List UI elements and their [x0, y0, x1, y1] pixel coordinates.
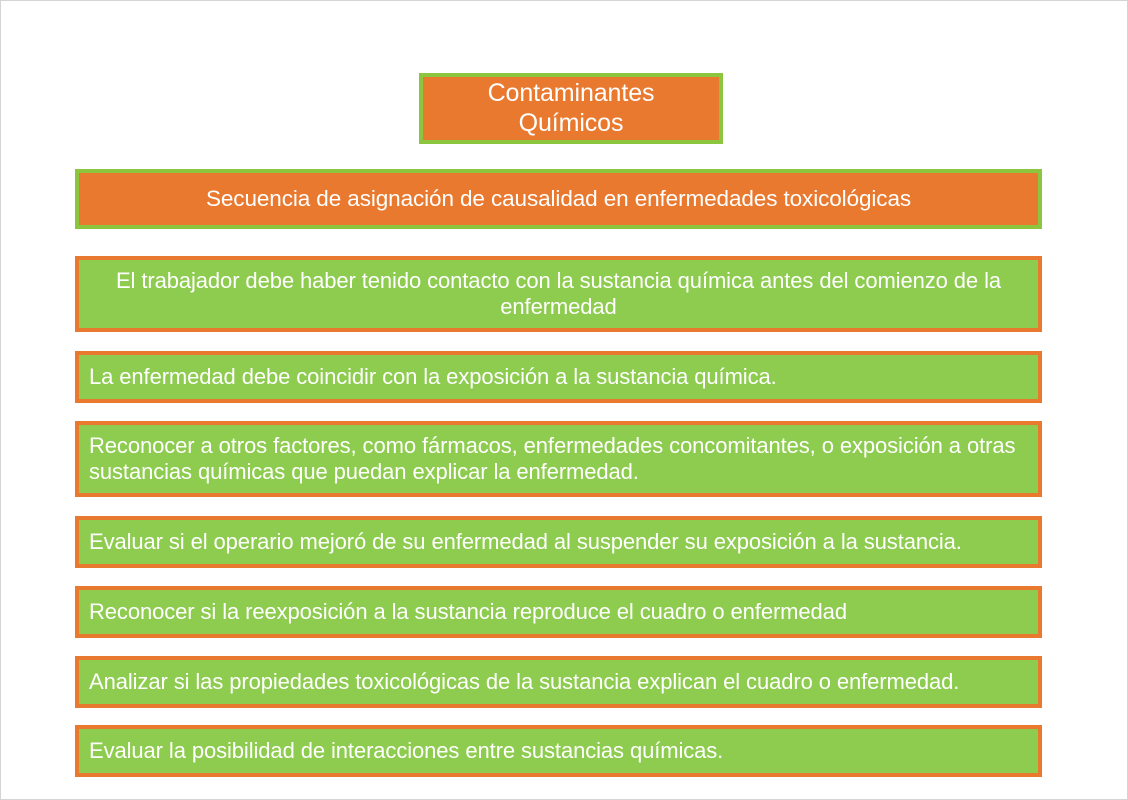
diagram-node-step-2[interactable]: La enfermedad debe coincidir con la expo…	[75, 351, 1042, 403]
diagram-node-title-label: ContaminantesQuímicos	[423, 79, 719, 138]
diagram-node-step-7[interactable]: Evaluar la posibilidad de interacciones …	[75, 725, 1042, 777]
diagram-node-step-3-label: Reconocer a otros factores, como fármaco…	[89, 433, 1028, 485]
slide-frame: ContaminantesQuímicos Secuencia de asign…	[0, 0, 1128, 800]
diagram-node-step-7-label: Evaluar la posibilidad de interacciones …	[89, 738, 1028, 764]
diagram-node-header[interactable]: Secuencia de asignación de causalidad en…	[75, 169, 1042, 229]
diagram-node-step-2-label: La enfermedad debe coincidir con la expo…	[89, 364, 1028, 390]
diagram-node-step-5[interactable]: Reconocer si la reexposición a la sustan…	[75, 586, 1042, 638]
diagram-node-step-4[interactable]: Evaluar si el operario mejoró de su enfe…	[75, 516, 1042, 568]
title-line-1: Contaminantes	[488, 79, 655, 107]
diagram-node-step-3[interactable]: Reconocer a otros factores, como fármaco…	[75, 421, 1042, 497]
diagram-node-step-5-label: Reconocer si la reexposición a la sustan…	[89, 599, 1028, 625]
diagram-node-header-label: Secuencia de asignación de causalidad en…	[79, 186, 1038, 213]
diagram-node-step-6[interactable]: Analizar si las propiedades toxicológica…	[75, 656, 1042, 708]
diagram-canvas: ContaminantesQuímicos Secuencia de asign…	[1, 1, 1127, 799]
diagram-node-step-6-label: Analizar si las propiedades toxicológica…	[89, 669, 1028, 695]
diagram-node-title[interactable]: ContaminantesQuímicos	[419, 73, 723, 144]
title-line-2: Químicos	[519, 109, 624, 137]
diagram-node-step-1-label: El trabajador debe haber tenido contacto…	[89, 268, 1028, 320]
diagram-node-step-1[interactable]: El trabajador debe haber tenido contacto…	[75, 256, 1042, 332]
diagram-node-step-4-label: Evaluar si el operario mejoró de su enfe…	[89, 529, 1028, 555]
